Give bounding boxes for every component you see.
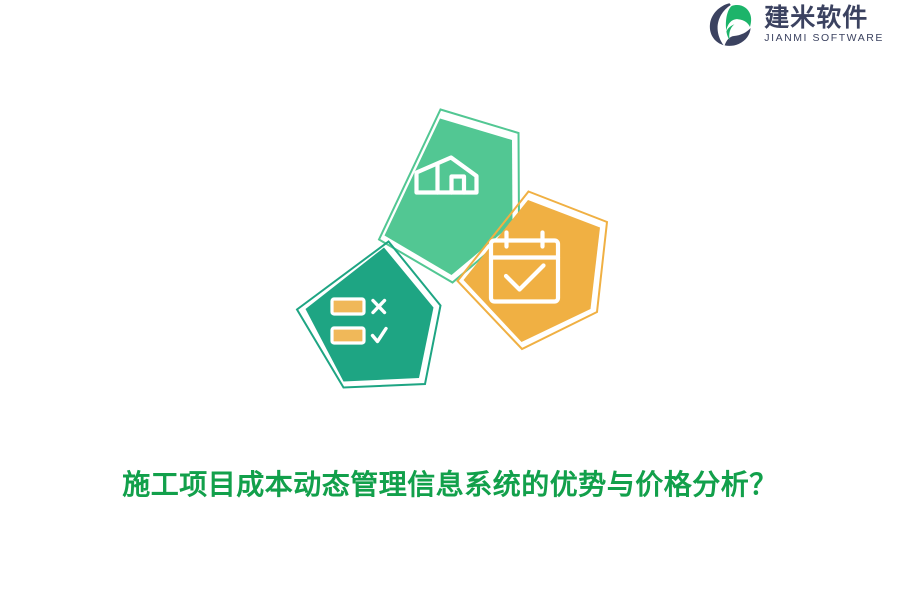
brand-subtitle: JIANMI SOFTWARE [764,32,884,44]
jianmi-leaf-logo-icon [709,2,755,46]
page-root: 建米软件 JIANMI SOFTWARE [0,0,900,600]
brand-text-block: 建米软件 JIANMI SOFTWARE [764,4,884,44]
pentagon-cluster-graphic [285,96,615,396]
brand-name: 建米软件 [764,5,884,31]
brand-logo[interactable]: 建米软件 JIANMI SOFTWARE [709,0,884,48]
page-title: 施工项目成本动态管理信息系统的优势与价格分析？ [0,463,900,507]
hero-illustration [0,96,900,406]
